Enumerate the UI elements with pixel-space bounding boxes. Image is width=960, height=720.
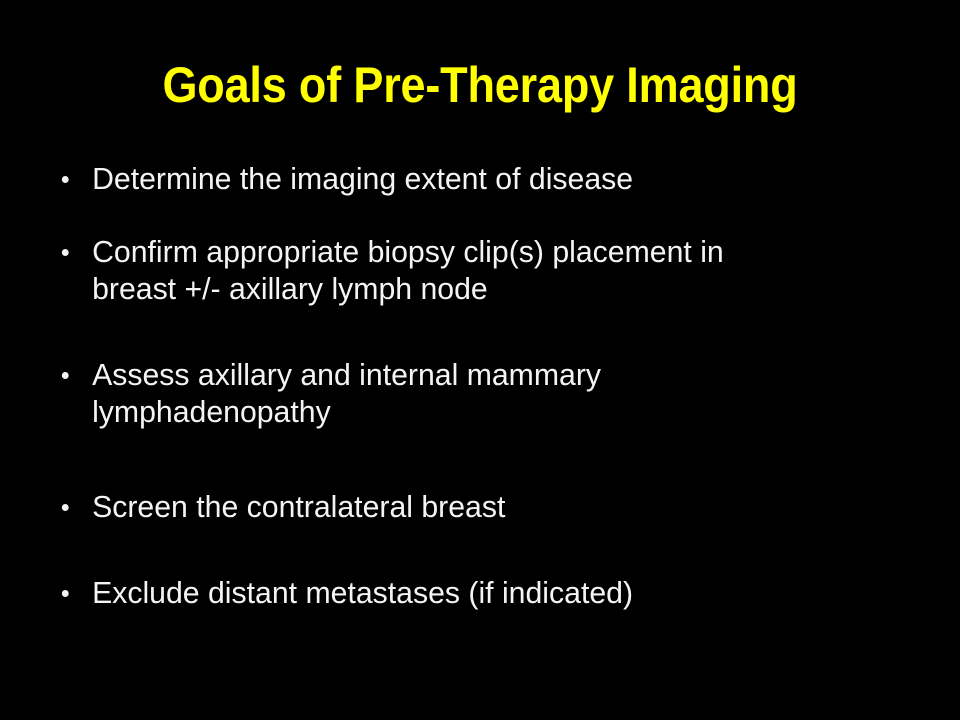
bullet-dot-icon bbox=[62, 372, 69, 379]
list-item: Screen the contralateral breast bbox=[56, 488, 914, 525]
list-item: Determine the imaging extent of disease bbox=[56, 160, 914, 197]
list-item: Assess axillary and internal mammary lym… bbox=[56, 356, 914, 430]
bullet-dot-icon bbox=[62, 176, 69, 183]
list-item: Confirm appropriate biopsy clip(s) place… bbox=[56, 233, 914, 307]
bullet-dot-icon bbox=[62, 249, 69, 256]
list-item-label: Screen the contralateral breast bbox=[92, 488, 914, 525]
bullet-dot-icon bbox=[62, 504, 69, 511]
list-item-label: Exclude distant metastases (if indicated… bbox=[92, 574, 914, 611]
presentation-slide: Goals of Pre-Therapy Imaging Determine t… bbox=[0, 0, 960, 720]
list-item-label: Assess axillary and internal mammary lym… bbox=[92, 356, 914, 430]
list-item: Exclude distant metastases (if indicated… bbox=[56, 574, 914, 611]
page-title: Goals of Pre-Therapy Imaging bbox=[48, 58, 912, 112]
list-item-label: Confirm appropriate biopsy clip(s) place… bbox=[92, 233, 914, 307]
list-item-label: Determine the imaging extent of disease bbox=[92, 160, 914, 197]
bullet-dot-icon bbox=[62, 590, 69, 597]
bullet-list: Determine the imaging extent of disease … bbox=[56, 160, 936, 611]
